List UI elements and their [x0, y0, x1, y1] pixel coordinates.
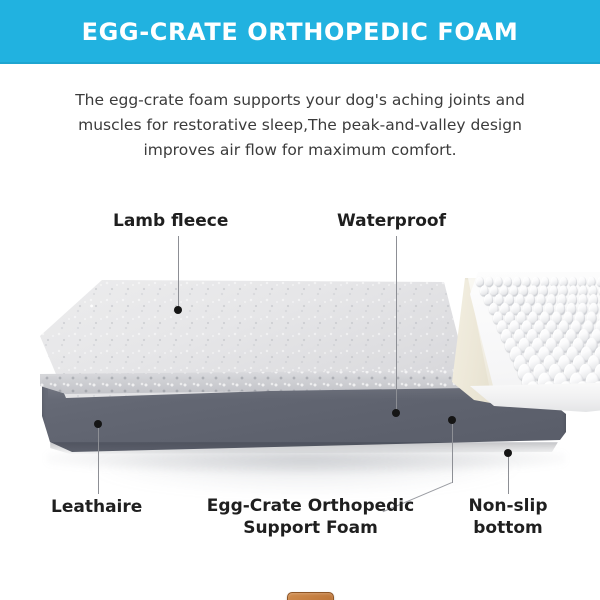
drop-shadow-soft: [90, 456, 520, 496]
leader-line-lamb-fleece: [178, 236, 179, 310]
callout-dot-non-slip: [504, 449, 512, 457]
callout-label-non-slip: Non-slip bottom: [444, 495, 572, 539]
callout-label-waterproof: Waterproof: [337, 210, 446, 232]
leader-line-waterproof: [396, 236, 397, 413]
leader-line-non-slip: [508, 457, 509, 494]
callout-label-lamb-fleece: Lamb fleece: [113, 210, 228, 232]
leader-line-leathaire: [98, 428, 99, 494]
description-text: The egg-crate foam supports your dog's a…: [50, 88, 550, 163]
leader-line-egg-crate-foam-vertical: [452, 424, 453, 483]
product-infographic: EGG-CRATE ORTHOPEDIC FOAM The egg-crate …: [0, 0, 600, 600]
callout-label-egg-crate-foam: Egg-Crate Orthopedic Support Foam: [189, 495, 432, 539]
callout-dot-lamb-fleece: [174, 306, 182, 314]
product-illustration: [0, 180, 600, 510]
callout-dot-egg-crate-foam: [448, 416, 456, 424]
callout-dot-leathaire: [94, 420, 102, 428]
page-title: EGG-CRATE ORTHOPEDIC FOAM: [82, 18, 519, 46]
non-slip-bottom-edge: [50, 442, 558, 454]
callout-label-leathaire: Leathaire: [51, 496, 142, 518]
foam-nub-row: [476, 277, 600, 286]
callout-dot-waterproof: [392, 409, 400, 417]
leather-logo-tag: [287, 592, 334, 600]
header-banner: EGG-CRATE ORTHOPEDIC FOAM: [0, 0, 600, 64]
